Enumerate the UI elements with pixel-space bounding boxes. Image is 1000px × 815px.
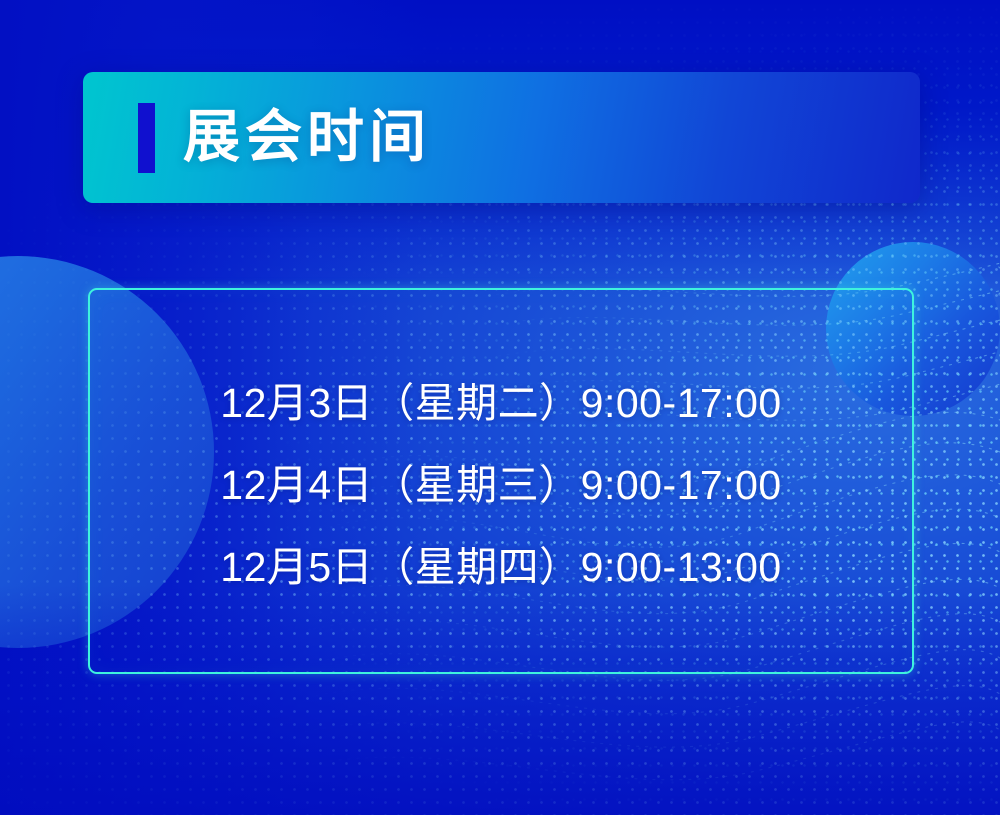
page-title: 展会时间: [183, 109, 431, 166]
schedule-row: 12月3日（星期二）9:00-17:00: [220, 362, 781, 444]
schedule-row: 12月5日（星期四）9:00-13:00: [220, 526, 781, 608]
schedule-frame: 12月3日（星期二）9:00-17:00 12月4日（星期三）9:00-17:0…: [88, 288, 914, 674]
poster-canvas: 展会时间 12月3日（星期二）9:00-17:00 12月4日（星期三）9:00…: [0, 0, 1000, 815]
section-header-banner: 展会时间: [83, 72, 920, 203]
header-accent-bar: [138, 103, 155, 173]
schedule-list: 12月3日（星期二）9:00-17:00 12月4日（星期三）9:00-17:0…: [90, 362, 912, 608]
schedule-row: 12月4日（星期三）9:00-17:00: [220, 444, 781, 526]
